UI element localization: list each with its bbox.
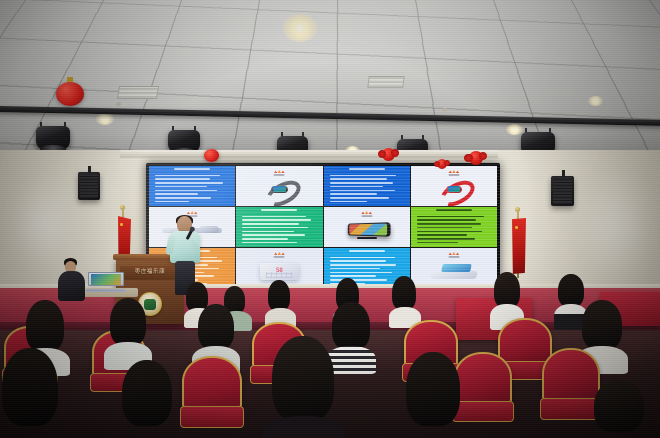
attendee-foreground xyxy=(0,348,62,438)
par-can-light xyxy=(36,118,70,152)
attendee-hair xyxy=(272,336,334,422)
tile-heading-bar xyxy=(324,168,410,170)
tile-product-image xyxy=(236,176,322,204)
laptop-base xyxy=(86,289,126,292)
attendee-hair xyxy=(582,300,622,350)
banquet-chair[interactable] xyxy=(182,356,242,428)
screen-tile-2 xyxy=(236,166,322,206)
screen-tile-3 xyxy=(324,166,410,206)
tablet-product xyxy=(342,222,392,239)
red-flower-decoration xyxy=(382,148,395,161)
tile-product-image xyxy=(411,176,497,204)
tile-heading-bar xyxy=(411,209,497,211)
attendee-foreground xyxy=(120,360,176,438)
tile-product-image xyxy=(411,258,497,286)
attendee-hair xyxy=(406,352,460,426)
handheld-device-product: 58 xyxy=(260,263,300,279)
tile-heading-bar xyxy=(236,209,322,211)
screen-tile-8 xyxy=(411,207,497,247)
operator-torso xyxy=(58,271,85,301)
attendee-body xyxy=(262,416,344,438)
recessed-downlight xyxy=(96,113,114,125)
tile-heading-bar xyxy=(149,168,235,170)
red-lantern xyxy=(56,82,84,106)
attendee xyxy=(268,280,294,324)
tile-text-lines xyxy=(330,175,404,205)
tile-product-image xyxy=(324,217,410,245)
ceiling xyxy=(0,0,660,172)
recessed-downlight xyxy=(588,96,603,106)
attendee-hair xyxy=(26,300,64,352)
attendee xyxy=(392,276,419,324)
tile-heading-bar xyxy=(324,250,410,252)
red-lantern xyxy=(204,149,219,162)
hvac-vent xyxy=(367,76,404,88)
attendee-hair xyxy=(122,360,172,426)
hvac-vent xyxy=(117,86,159,99)
screen-tile-1 xyxy=(149,166,235,206)
wall-light-reflection xyxy=(574,168,658,286)
red-flower-decoration xyxy=(469,151,483,165)
pos-terminal-product xyxy=(429,264,479,280)
laptop-screen xyxy=(91,274,121,285)
wall-speaker-right xyxy=(551,176,574,206)
wall-speaker-left xyxy=(78,172,100,200)
attendee-hair xyxy=(594,380,644,432)
attendee-hair xyxy=(392,276,416,310)
attendee-hair xyxy=(110,298,146,346)
attendee-hair xyxy=(268,280,290,311)
screen-tile-7 xyxy=(324,207,410,247)
screen-tile-6 xyxy=(236,207,322,247)
attendee-hair xyxy=(2,348,58,426)
ceiling-shading xyxy=(0,0,660,172)
attendee-hair xyxy=(494,272,520,308)
screen-tile-12 xyxy=(411,248,497,288)
national-flag-right xyxy=(512,218,526,274)
attendee xyxy=(108,298,148,366)
tile-text-lines xyxy=(417,216,491,246)
red-flower-decoration xyxy=(437,159,447,169)
laptop-computer[interactable] xyxy=(88,272,124,292)
screen-tile-4 xyxy=(411,166,497,206)
attendee-hair xyxy=(198,304,234,350)
tile-text-lines xyxy=(155,175,229,205)
recessed-downlight xyxy=(283,14,317,42)
conference-hall-photo: 58 枣庄福乐康 xyxy=(0,0,660,438)
sprinkler-head xyxy=(116,102,121,106)
sprinkler-head xyxy=(442,108,447,112)
smartwatch-product xyxy=(262,182,297,198)
smartwatch-product xyxy=(437,182,472,198)
tile-text-lines xyxy=(242,216,316,246)
attendee-foreground xyxy=(268,336,338,438)
av-operator xyxy=(58,258,86,302)
attendee-foreground xyxy=(404,352,464,438)
attendee-foreground xyxy=(592,380,648,438)
